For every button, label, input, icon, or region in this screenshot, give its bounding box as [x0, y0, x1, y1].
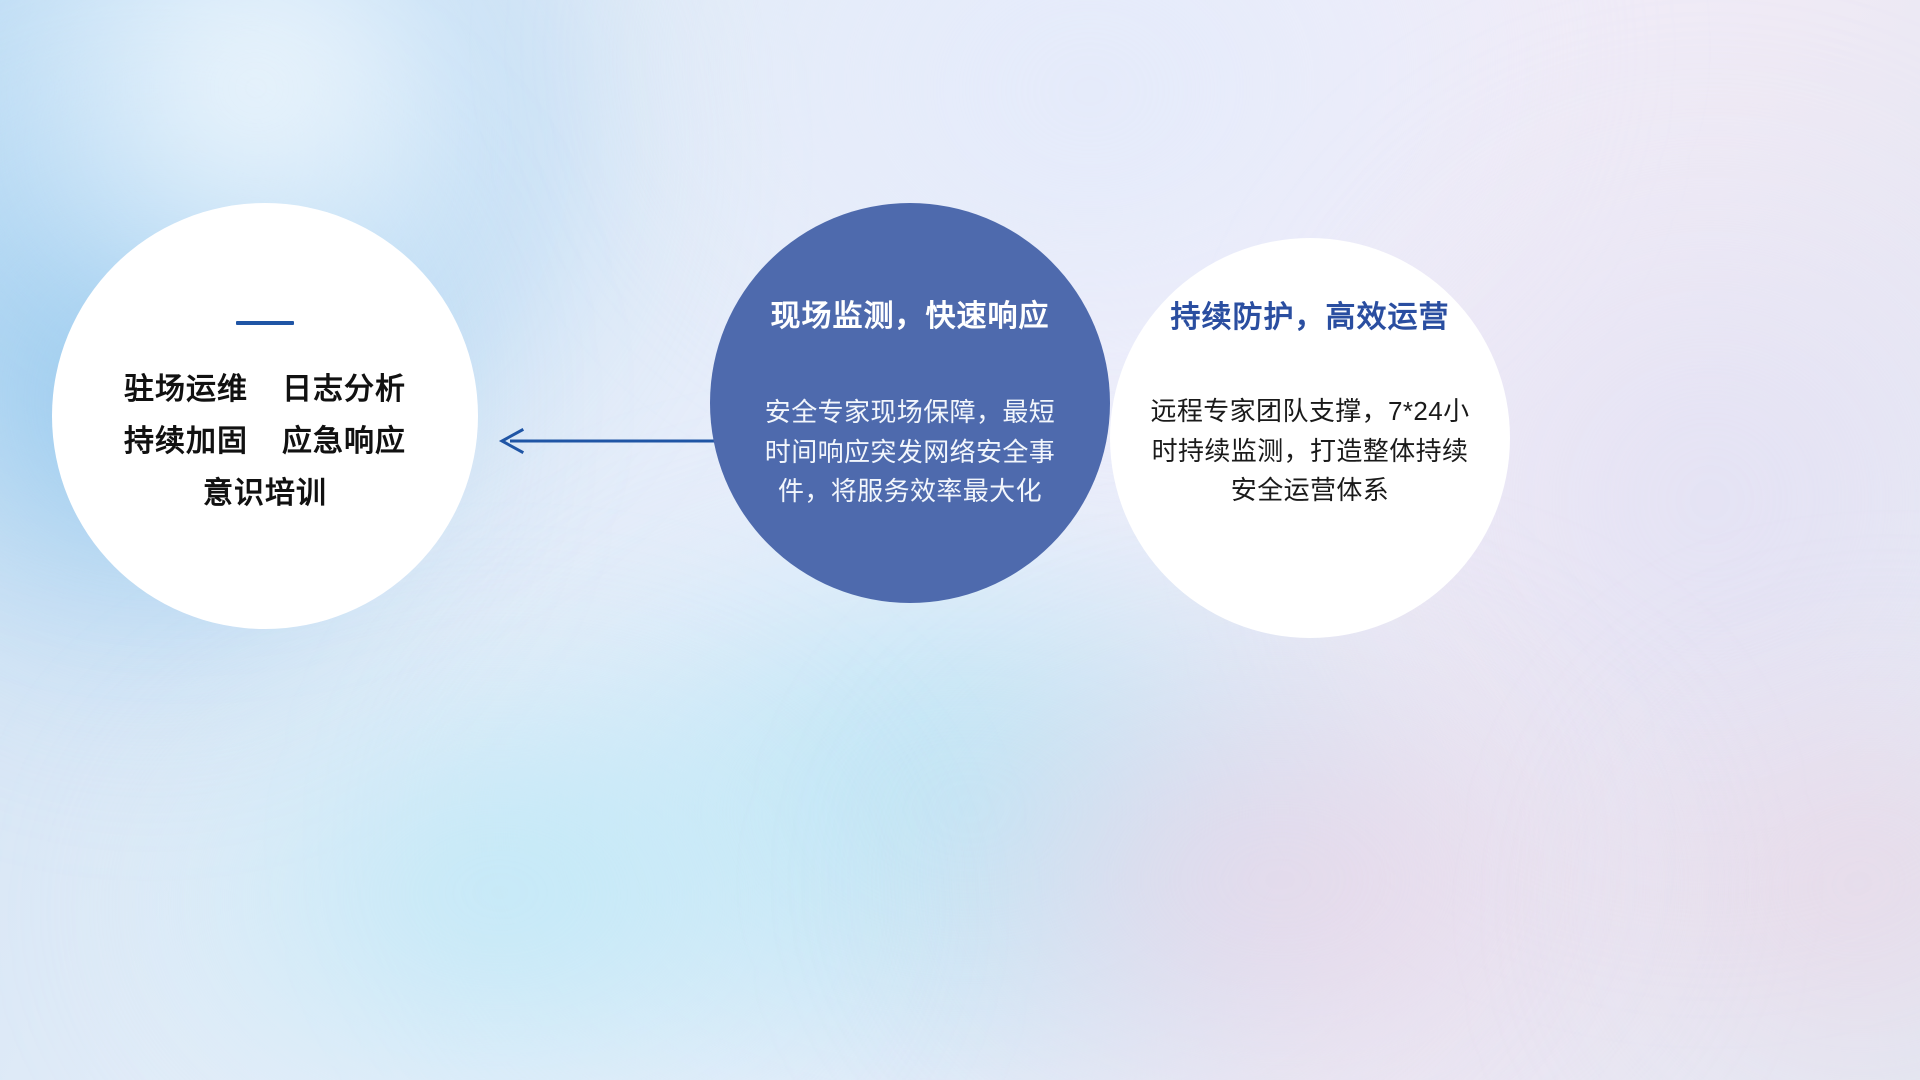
left-capability-circle[interactable]: 驻场运维 日志分析 持续加固 应急响应 意识培训	[52, 203, 478, 629]
left-divider-rule	[236, 321, 294, 325]
capability-item: 日志分析	[282, 375, 406, 405]
mid-circle-body: 安全专家现场保障，最短时间响应突发网络安全事件，将服务效率最大化	[760, 393, 1060, 512]
left-circle-content: 驻场运维 日志分析 持续加固 应急响应 意识培训	[52, 321, 478, 509]
mid-onsite-circle[interactable]: 现场监测，快速响应 安全专家现场保障，最短时间响应突发网络安全事件，将服务效率最…	[710, 203, 1110, 603]
right-circle-body: 远程专家团队支撑，7*24小时持续监测，打造整体持续安全运营体系	[1144, 392, 1476, 511]
capability-item: 应急响应	[282, 427, 406, 457]
capability-row: 意识培训	[203, 479, 327, 509]
connector-arrow-left-icon	[480, 410, 740, 474]
capability-row: 驻场运维 日志分析	[124, 375, 406, 405]
capability-row: 持续加固 应急响应	[124, 427, 406, 457]
capability-item: 持续加固	[124, 427, 248, 457]
mid-circle-title: 现场监测，快速响应	[771, 291, 1050, 335]
slide-canvas: 驻场运维 日志分析 持续加固 应急响应 意识培训 现场监测，快速响应 安全专家现…	[0, 0, 1920, 1080]
capability-list: 驻场运维 日志分析 持续加固 应急响应 意识培训	[124, 375, 406, 509]
capability-item: 驻场运维	[124, 375, 248, 405]
right-operations-circle[interactable]: 持续防护，高效运营 远程专家团队支撑，7*24小时持续监测，打造整体持续安全运营…	[1110, 238, 1510, 638]
right-circle-title: 持续防护，高效运营	[1171, 292, 1450, 336]
capability-item: 意识培训	[203, 479, 327, 509]
